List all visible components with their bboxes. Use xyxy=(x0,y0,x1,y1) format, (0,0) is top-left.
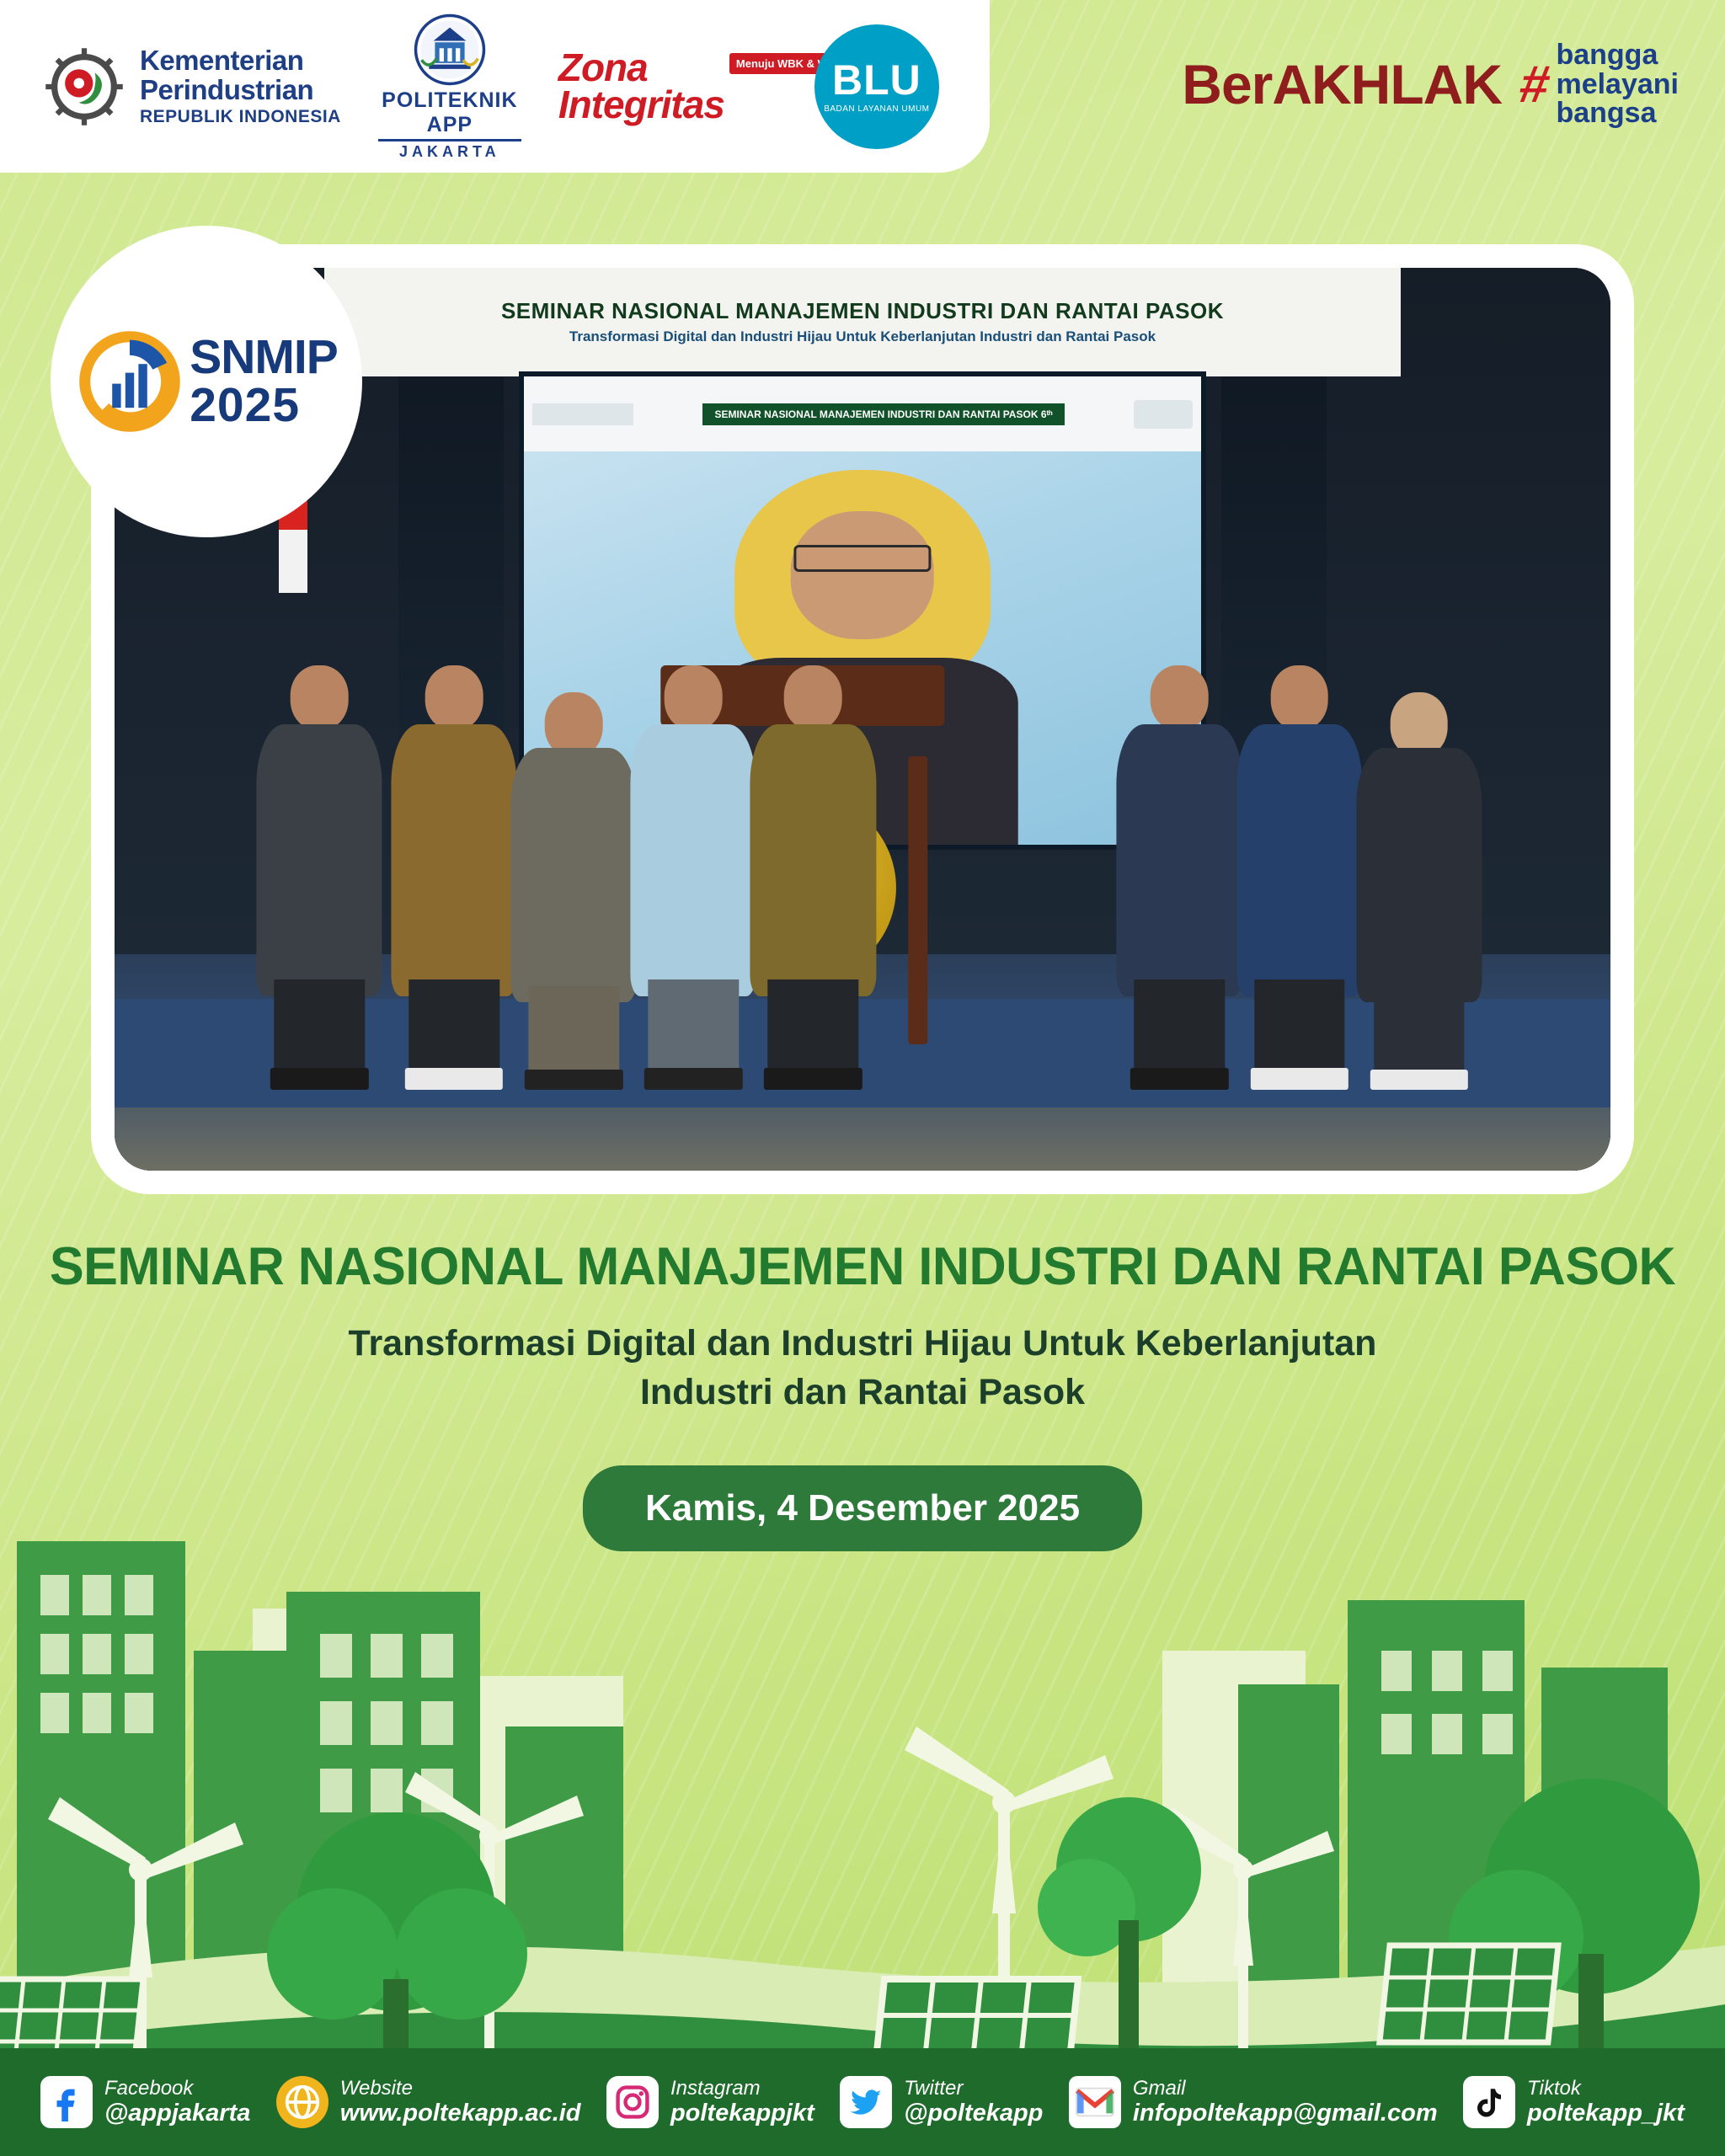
berakhlak-text: BerAKHLAK xyxy=(1182,52,1502,116)
gmail-icon[interactable] xyxy=(1069,2076,1121,2128)
berakhlak-branding: BerAKHLAK # bangga melayani bangsa xyxy=(1182,40,1679,128)
kemenperin-line1: Kementerian xyxy=(140,46,341,76)
footer-social-bar: Facebook @appjakarta Website www.polteka… xyxy=(0,2048,1725,2156)
event-date-pill: Kamis, 4 Desember 2025 xyxy=(583,1465,1142,1551)
social-website[interactable]: Website www.poltekapp.ac.id xyxy=(276,2076,581,2128)
website-platform: Website xyxy=(340,2077,581,2100)
tiktok-icon[interactable] xyxy=(1463,2076,1515,2128)
snmip-badge: SNMIP 2025 xyxy=(51,226,362,537)
hashtag-icon: # xyxy=(1515,55,1555,115)
person-2 xyxy=(392,665,517,1090)
gmail-platform: Gmail xyxy=(1133,2077,1438,2100)
kemenperin-line3: REPUBLIK INDONESIA xyxy=(140,108,341,126)
facebook-icon[interactable] xyxy=(40,2076,93,2128)
person-1 xyxy=(257,665,382,1090)
politeknik-name: POLITEKNIK APP xyxy=(370,88,530,137)
politeknik-city: JAKARTA xyxy=(370,143,530,161)
poster-root: Kementerian Perindustrian REPUBLIK INDON… xyxy=(0,0,1725,2156)
stage-banner: SEMINAR NASIONAL MANAJEMEN INDUSTRI DAN … xyxy=(324,268,1402,376)
person-7 xyxy=(1236,665,1362,1090)
header-logo-bar: Kementerian Perindustrian REPUBLIK INDON… xyxy=(0,0,990,173)
person-6 xyxy=(1117,665,1242,1090)
blu-logo-icon: BLU BADAN LAYANAN UMUM xyxy=(814,24,939,149)
screen-header: SEMINAR NASIONAL MANAJEMEN INDUSTRI DAN … xyxy=(524,376,1202,451)
screen-title: SEMINAR NASIONAL MANAJEMEN INDUSTRI DAN … xyxy=(702,403,1064,425)
blu-main-text: BLU xyxy=(832,59,921,101)
stage-banner-title: SEMINAR NASIONAL MANAJEMEN INDUSTRI DAN … xyxy=(501,298,1224,324)
person-4 xyxy=(631,665,756,1090)
bangga-line2: melayani xyxy=(1556,70,1679,99)
social-twitter[interactable]: Twitter @poltekapp xyxy=(840,2076,1043,2128)
politeknik-divider xyxy=(378,139,521,141)
social-facebook[interactable]: Facebook @appjakarta xyxy=(40,2076,250,2128)
gmail-handle: infopoltekapp@gmail.com xyxy=(1133,2100,1438,2127)
zona-integritas-logo: Zona Integritas Menuju WBK & WBBM xyxy=(558,50,786,123)
zona-line2: Integritas xyxy=(558,87,724,124)
website-globe-icon[interactable] xyxy=(276,2076,328,2128)
tiktok-handle: poltekapp_jkt xyxy=(1527,2100,1685,2127)
social-instagram[interactable]: Instagram poltekappjkt xyxy=(606,2076,814,2128)
website-handle: www.poltekapp.ac.id xyxy=(340,2100,581,2127)
kemenperin-logo: Kementerian Perindustrian REPUBLIK INDON… xyxy=(40,43,341,131)
twitter-icon[interactable] xyxy=(840,2076,892,2128)
kemenperin-logo-icon xyxy=(40,43,128,131)
facebook-handle: @appjakarta xyxy=(104,2100,250,2127)
politeknik-app-logo-icon xyxy=(413,13,487,87)
kemenperin-logo-text: Kementerian Perindustrian REPUBLIK INDON… xyxy=(140,46,341,125)
kemenperin-line2: Perindustrian xyxy=(140,76,341,105)
subtitle-line1: Transformasi Digital dan Industri Hijau … xyxy=(349,1323,1377,1364)
bangga-line1: bangga xyxy=(1556,40,1679,70)
instagram-icon[interactable] xyxy=(606,2076,659,2128)
person-8 xyxy=(1356,692,1482,1090)
snmip-name: SNMIP xyxy=(190,334,338,382)
bangga-melayani-bangsa-logo: # bangga melayani bangsa xyxy=(1520,40,1679,128)
person-3 xyxy=(511,692,637,1090)
tiktok-platform: Tiktok xyxy=(1527,2077,1685,2100)
bangga-line3: bangsa xyxy=(1556,99,1679,128)
subtitle-line2: Industri dan Rantai Pasok xyxy=(640,1372,1085,1412)
politeknik-app-logo: POLITEKNIK APP JAKARTA xyxy=(370,13,530,161)
stage-banner-subtitle: Transformasi Digital dan Industri Hijau … xyxy=(569,328,1156,345)
page-title: SEMINAR NASIONAL MANAJEMEN INDUSTRI DAN … xyxy=(26,1236,1700,1297)
blu-sub-text: BADAN LAYANAN UMUM xyxy=(824,104,929,114)
page-subtitle: Transformasi Digital dan Industri Hijau … xyxy=(0,1319,1725,1417)
instagram-platform: Instagram xyxy=(670,2077,814,2100)
person-5 xyxy=(750,665,876,1090)
twitter-platform: Twitter xyxy=(904,2077,1043,2100)
twitter-handle: @poltekapp xyxy=(904,2100,1043,2127)
instagram-handle: poltekappjkt xyxy=(670,2100,814,2127)
zona-line1: Zona xyxy=(558,50,724,87)
facebook-platform: Facebook xyxy=(104,2077,250,2100)
snmip-year: 2025 xyxy=(190,382,338,430)
social-gmail[interactable]: Gmail infopoltekapp@gmail.com xyxy=(1069,2076,1438,2128)
snmip-gear-chart-icon xyxy=(75,327,184,436)
social-tiktok[interactable]: Tiktok poltekapp_jkt xyxy=(1463,2076,1685,2128)
